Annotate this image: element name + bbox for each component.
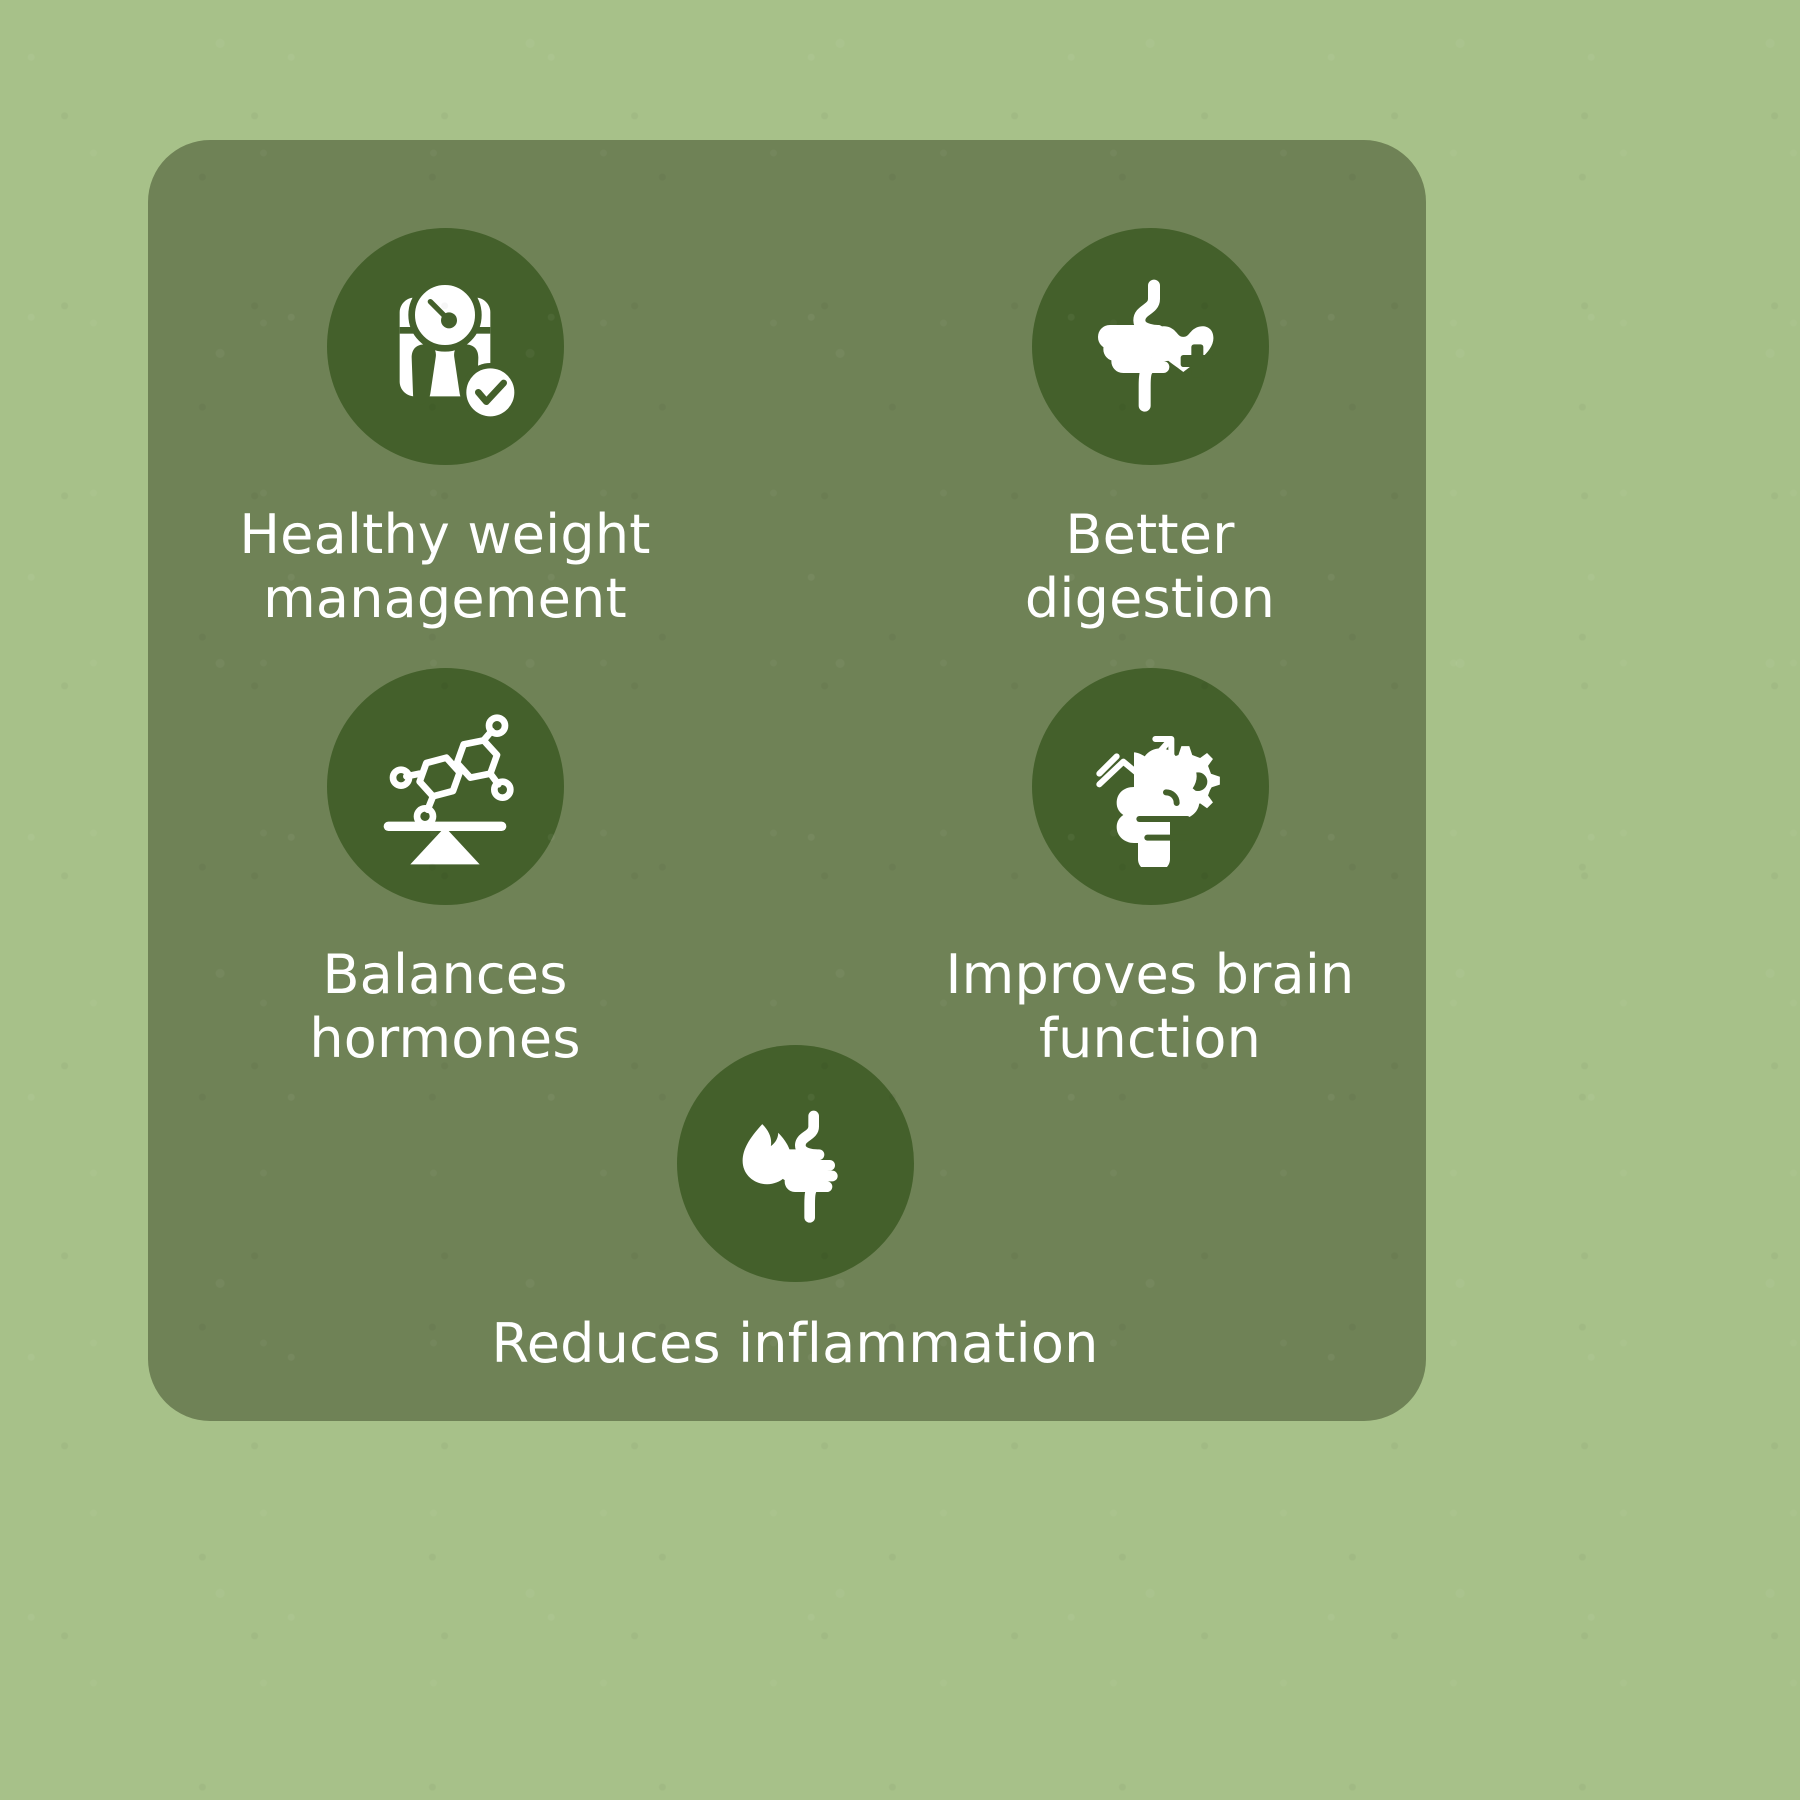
benefit-item-reduces-inflammation[interactable]: Reduces inflammation	[490, 1045, 1100, 1376]
weight-scale-check-icon	[327, 228, 564, 465]
benefits-list: Healthy weight management	[0, 0, 1800, 1800]
benefit-label: Reduces inflammation	[491, 1312, 1098, 1376]
benefit-item-healthy-weight-management[interactable]: Healthy weight management	[225, 228, 665, 630]
benefit-label: Healthy weight management	[239, 503, 650, 630]
benefit-item-better-digestion[interactable]: Better digestion	[940, 228, 1360, 630]
molecule-balance-scale-icon	[327, 668, 564, 905]
benefit-item-balances-hormones[interactable]: Balances hormones	[225, 668, 665, 1070]
brain-growth-gear-icon	[1032, 668, 1269, 905]
benefit-item-improves-brain-function[interactable]: Improves brain function	[915, 668, 1385, 1070]
flame-intestines-icon	[677, 1045, 914, 1282]
intestines-heart-plus-icon	[1032, 228, 1269, 465]
benefit-label: Better digestion	[1025, 503, 1275, 630]
